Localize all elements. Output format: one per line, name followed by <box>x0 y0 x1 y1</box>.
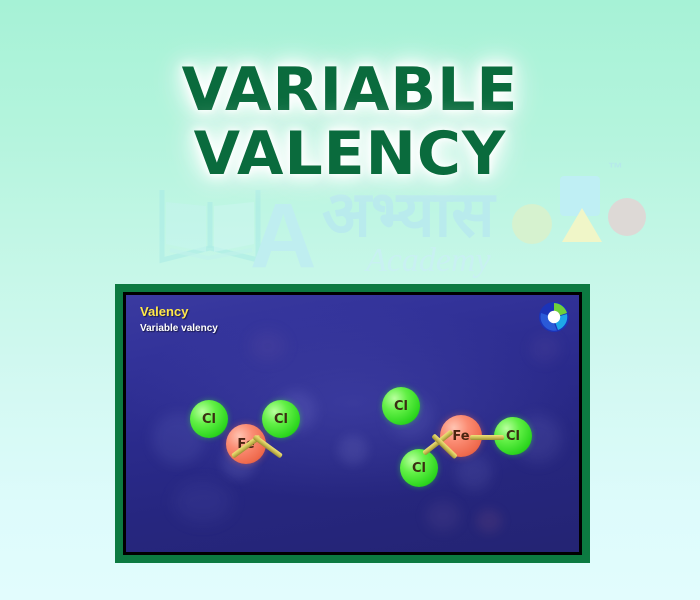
atom-label: Fe <box>452 429 469 444</box>
triangle-shape-icon <box>562 208 602 242</box>
grey-circle-shape-icon <box>608 198 646 236</box>
watermark-academy-text: Academy <box>366 244 491 278</box>
atom-chlorine: Cl <box>400 449 438 487</box>
video-frame[interactable]: Valency Variable valency <box>115 284 590 563</box>
video-title: Valency <box>140 304 218 320</box>
atom-label: Cl <box>274 412 288 427</box>
bokeh-decoration <box>250 331 286 361</box>
atom-label: Cl <box>394 399 408 414</box>
atom-label: Cl <box>202 412 216 427</box>
molecule-fecl2: Cl Cl Fe <box>182 390 322 480</box>
bokeh-decoration <box>530 335 560 363</box>
page-title-line-2: VALENCY <box>0 122 700 186</box>
bokeh-decoration <box>174 481 232 523</box>
bond-line <box>470 435 504 440</box>
video-header: Valency Variable valency <box>140 304 218 335</box>
page-title: VARIABLE VALENCY <box>0 58 700 186</box>
circular-brand-logo-icon[interactable] <box>538 301 570 333</box>
atom-chlorine: Cl <box>190 400 228 438</box>
atom-chlorine: Cl <box>382 387 420 425</box>
video-screen[interactable]: Valency Variable valency <box>126 295 579 552</box>
video-subtitle: Variable valency <box>140 322 218 335</box>
atom-label: Cl <box>506 429 520 444</box>
watermark-hindi-text: अभ्यास <box>322 182 494 246</box>
bokeh-decoration <box>338 435 368 465</box>
watermark-letter-a: A <box>250 190 313 282</box>
bokeh-decoration <box>476 509 502 533</box>
green-circle-shape-icon <box>512 204 552 244</box>
molecule-fecl3: Cl Cl Cl Fe <box>378 383 538 498</box>
atom-label: Cl <box>412 461 426 476</box>
video-inner-border: Valency Variable valency <box>123 292 582 555</box>
atom-chlorine: Cl <box>262 400 300 438</box>
bokeh-decoration <box>426 501 460 531</box>
page-title-line-1: VARIABLE <box>0 58 700 122</box>
